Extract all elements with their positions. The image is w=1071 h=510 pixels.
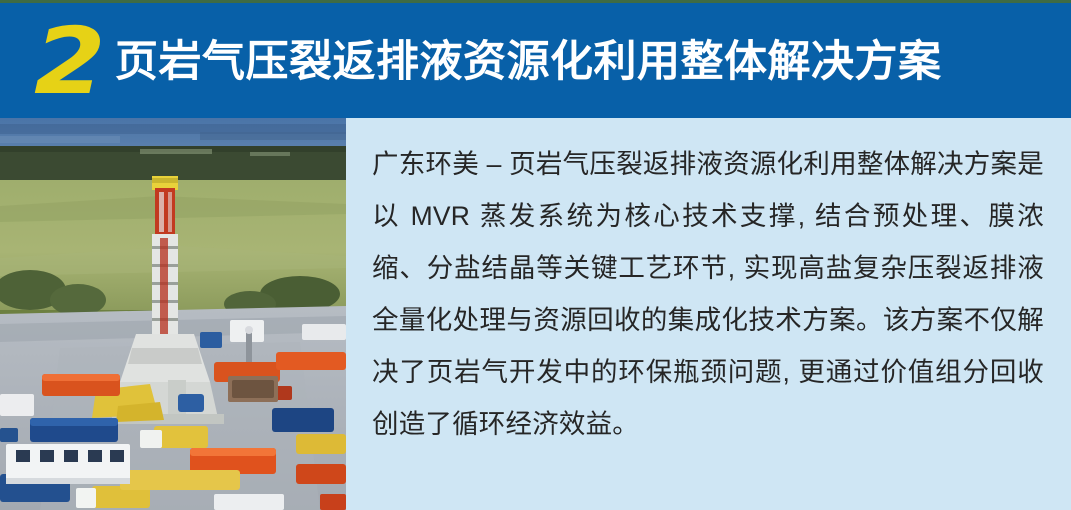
content-row: 广东环美 – 页岩气压裂返排液资源化利用整体解决方案是以 MVR 蒸发系统为核心… xyxy=(0,118,1071,510)
fracturing-site-photo xyxy=(0,118,346,510)
section-header-band: 2 页岩气压裂返排液资源化利用整体解决方案 xyxy=(0,3,1071,118)
solution-description-text: 广东环美 – 页岩气压裂返排液资源化利用整体解决方案是以 MVR 蒸发系统为核心… xyxy=(372,138,1044,450)
section-number-badge: 2 xyxy=(34,21,121,103)
page-title: 页岩气压裂返排液资源化利用整体解决方案 xyxy=(115,31,942,93)
oil-rig-photo-illustration xyxy=(0,118,346,510)
solution-section-card: 2 页岩气压裂返排液资源化利用整体解决方案 xyxy=(0,0,1071,510)
description-panel: 广东环美 – 页岩气压裂返排液资源化利用整体解决方案是以 MVR 蒸发系统为核心… xyxy=(346,118,1071,510)
